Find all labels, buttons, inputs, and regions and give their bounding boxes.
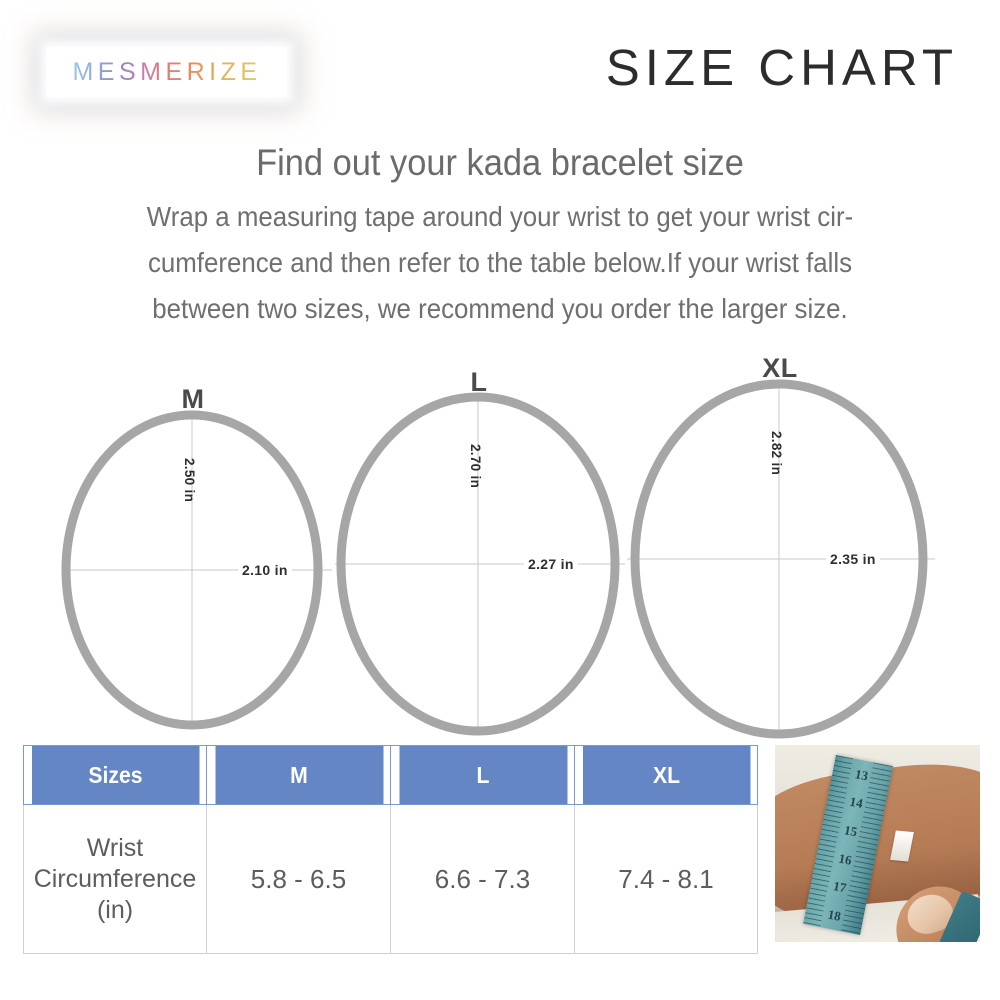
table-header-sizes: Sizes: [31, 746, 199, 805]
table-header-xl: XL: [582, 746, 750, 805]
cell-wrist-xl: 7.4 - 8.1: [575, 805, 758, 954]
wrist-measurement-photo: 13 14 15 16 17 18: [775, 745, 980, 942]
tape-number: 14: [849, 795, 864, 810]
cell-wrist-l: 6.6 - 7.3: [391, 805, 575, 954]
tape-number: 18: [827, 908, 842, 923]
brand-name: MESMERIZE: [72, 58, 261, 87]
tape-number: 15: [843, 823, 858, 838]
row-label-line-2: Circumference: [26, 864, 204, 895]
row-label-wrist-circumference: Wrist Circumference (in): [24, 805, 207, 954]
oval-height-label-l: 2.70 in: [468, 444, 483, 488]
oval-height-label-m: 2.50 in: [182, 458, 197, 502]
oval-height-label-xl: 2.82 in: [769, 431, 784, 475]
intro-block: Find out your kada bracelet size Wrap a …: [0, 142, 1000, 331]
oval-width-label-l: 2.27 in: [524, 556, 578, 572]
table-header-m: M: [214, 746, 383, 805]
row-label-line-3: (in): [26, 895, 204, 926]
oval-diagram-group: M 2.50 in 2.10 in L 2.70 in 2.27 in XL 2…: [0, 352, 1000, 742]
oval-diagram-l: L 2.70 in 2.27 in: [333, 372, 623, 740]
tape-number: 17: [832, 880, 847, 895]
size-table: Sizes M L XL Wrist Circumference (in) 5.…: [23, 745, 758, 954]
oval-diagram-xl: XL 2.82 in 2.35 in: [625, 357, 935, 742]
oval-width-label-m: 2.10 in: [238, 562, 292, 578]
intro-body-line-1: Wrap a measuring tape around your wrist …: [73, 194, 927, 240]
page-title: SIZE CHART: [606, 42, 958, 93]
oval-width-label-xl: 2.35 in: [826, 551, 880, 567]
row-label-line-1: Wrist: [26, 833, 204, 864]
cell-wrist-m: 5.8 - 6.5: [207, 805, 391, 954]
tape-number: 16: [838, 851, 853, 866]
oval-shape-m: [60, 390, 345, 735]
table-header-l: L: [398, 746, 567, 805]
tape-number: 13: [854, 767, 869, 782]
intro-body-line-3: between two sizes, we recommend you orde…: [73, 286, 927, 332]
intro-body-line-2: cumference and then refer to the table b…: [73, 240, 927, 286]
oval-shape-l: [333, 372, 643, 744]
intro-body: Wrap a measuring tape around your wrist …: [30, 194, 970, 331]
brand-logo: MESMERIZE: [47, 47, 287, 97]
intro-heading: Find out your kada bracelet size: [35, 142, 965, 183]
table-row: Wrist Circumference (in) 5.8 - 6.5 6.6 -…: [24, 805, 758, 954]
table-header-row: Sizes M L XL: [24, 746, 758, 805]
oval-shape-xl: [625, 357, 955, 747]
oval-diagram-m: M 2.50 in 2.10 in: [60, 390, 325, 730]
